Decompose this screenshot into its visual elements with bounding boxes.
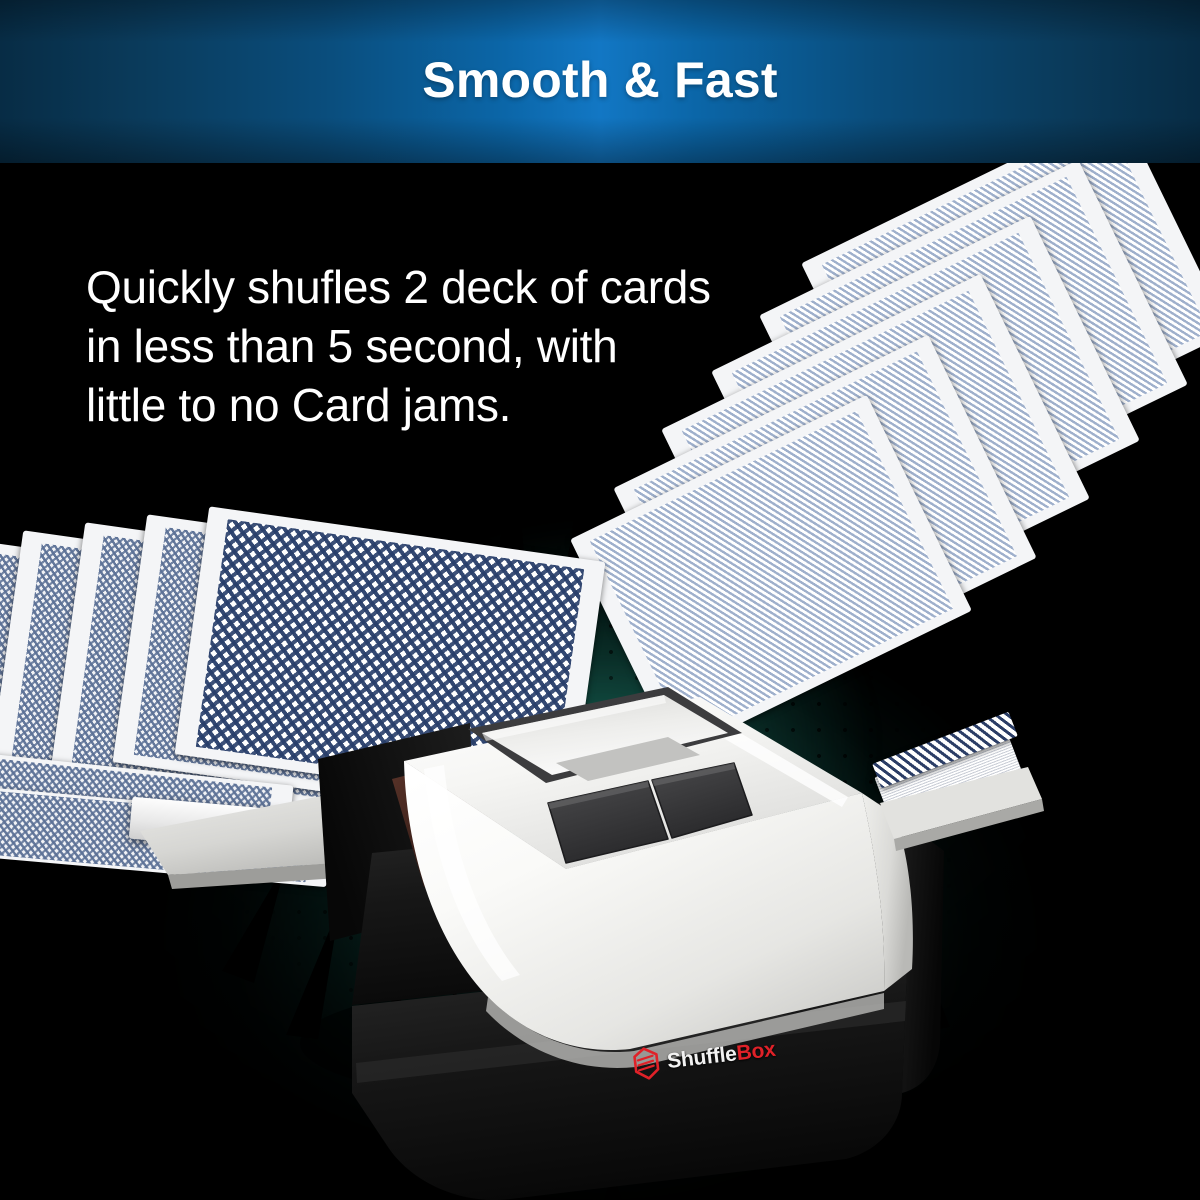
page-title: Smooth & Fast	[422, 55, 777, 105]
feature-line-3: little to no Card jams.	[86, 376, 866, 435]
feature-line-1: Quickly shufles 2 deck of cards	[86, 258, 866, 317]
product-feature-poster: Smooth & Fast	[0, 0, 1200, 1200]
header-banner: Smooth & Fast	[0, 0, 1200, 163]
feature-line-2: in less than 5 second, with	[86, 317, 866, 376]
feature-description: Quickly shufles 2 deck of cards in less …	[86, 258, 866, 435]
